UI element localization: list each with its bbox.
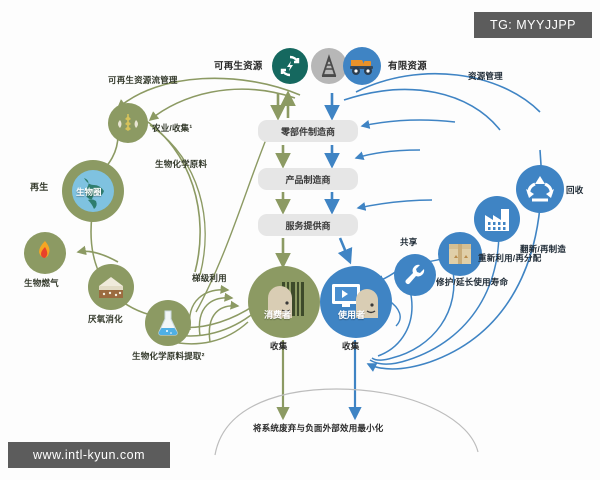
- user-label: 使用者: [338, 308, 365, 321]
- soil-layers-icon: [95, 272, 127, 302]
- node-extraction[interactable]: [145, 300, 191, 346]
- recycle-icon: [523, 172, 557, 206]
- factory-icon: [481, 205, 513, 233]
- renewable-resources-label: 可再生资源: [214, 58, 263, 72]
- user-collection-label: 收集: [342, 340, 359, 352]
- finite-resources-label: 有限资源: [388, 58, 427, 72]
- box-parts-maker[interactable]: 零部件制造商: [258, 120, 358, 142]
- cascade-label: 梯级利用: [192, 272, 227, 284]
- consumer-collection-label: 收集: [270, 340, 287, 352]
- monitor-icon: [332, 284, 360, 307]
- wheat-fish-icon: [112, 110, 144, 136]
- actor-user[interactable]: [320, 266, 392, 338]
- box-service-provider[interactable]: 服务提供商: [258, 214, 358, 236]
- actor-consumer[interactable]: [248, 266, 320, 338]
- oil-derrick-icon: [311, 48, 347, 84]
- mining-truck-icon: [343, 47, 381, 85]
- consumer-label: 消费者: [264, 308, 291, 321]
- flask-icon: [155, 308, 181, 338]
- renewable-energy-icon: [272, 48, 308, 84]
- node-redistribute[interactable]: [438, 232, 482, 276]
- regeneration-label: 再生: [30, 180, 48, 193]
- recycle-label: 回收: [566, 184, 583, 196]
- node-refurbish[interactable]: [474, 196, 520, 242]
- node-maintain[interactable]: [394, 254, 436, 296]
- resource-management-title: 资源管理: [468, 70, 503, 82]
- wrench-icon: [401, 261, 429, 289]
- node-anaerobic[interactable]: [88, 264, 134, 310]
- maintain-label: 修护/延长使用寿命: [436, 276, 508, 288]
- biochemical-feedstock-label: 生物化学原料: [155, 158, 207, 170]
- node-recycle[interactable]: [516, 165, 564, 213]
- tg-tag: TG: MYYJJPP: [474, 12, 592, 38]
- box-product-maker[interactable]: 产品制造商: [258, 168, 358, 190]
- biogas-label: 生物燃气: [24, 277, 59, 289]
- watermark: www.intl-kyun.com: [8, 442, 170, 468]
- redistribute-label: 重新利用/再分配: [478, 252, 541, 264]
- biosphere-label: 生物圈: [76, 186, 102, 198]
- agriculture-label: 农业/收集¹: [152, 122, 192, 134]
- node-agriculture[interactable]: [108, 103, 148, 143]
- footer-label: 将系统废弃与负面外部效用最小化: [253, 422, 384, 434]
- box-package-icon: [445, 240, 475, 268]
- share-label: 共享: [400, 236, 417, 248]
- anaerobic-label: 厌氧消化: [88, 313, 123, 325]
- node-biogas[interactable]: [24, 232, 66, 274]
- renewable-flow-title: 可再生资源流管理: [108, 74, 178, 86]
- extraction-label: 生物化学原料提取²: [132, 350, 205, 362]
- diagram-canvas: 可再生资源 有限资源 零部件制造商 产品制造商 服务提供商 消费者 收集: [0, 0, 600, 480]
- flame-icon: [33, 239, 57, 267]
